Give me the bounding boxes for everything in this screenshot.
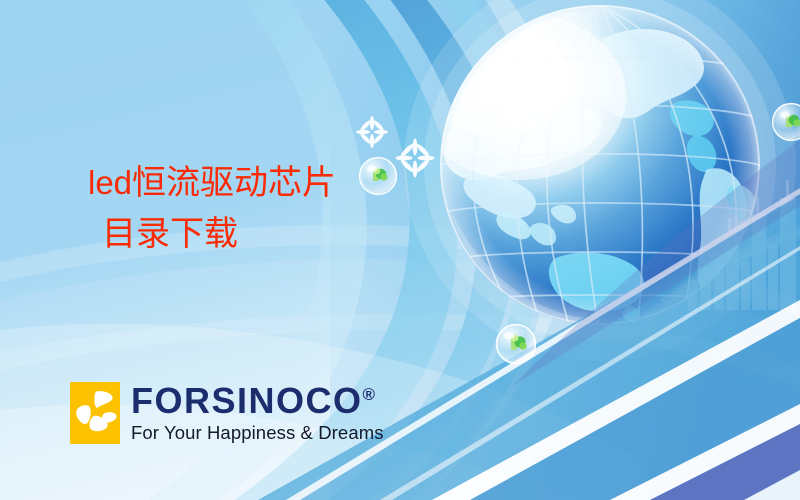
headline-text: led恒流驱动芯片 目录下载 [88, 163, 336, 256]
brand-lockup: FORSINOCO® For Your Happiness & Dreams [70, 382, 384, 444]
brand-tagline: For Your Happiness & Dreams [131, 422, 384, 444]
diagonal-bands [258, 140, 800, 500]
headline-line-2: 目录下载 [102, 214, 336, 255]
headline-latin: led [88, 164, 132, 201]
brand-wordmark: FORSINOCO® For Your Happiness & Dreams [131, 382, 384, 444]
headline-cjk: 恒流驱动芯片 [132, 165, 336, 202]
globe-earth-icon [414, 5, 762, 330]
registered-mark: ® [363, 385, 376, 404]
starburst-sparkle-icon [356, 116, 435, 178]
bubble-pinwheel-icon [359, 103, 800, 364]
pinwheel-flower-icon [70, 382, 120, 444]
brand-name: FORSINOCO® [131, 383, 384, 419]
brand-name-text: FORSINOCO [131, 380, 363, 421]
promo-banner: led恒流驱动芯片 目录下载 FORSINOCO® For Your Happi… [0, 0, 800, 500]
headline-line-1: led恒流驱动芯片 [88, 163, 336, 204]
city-skyline-icon [640, 180, 800, 322]
